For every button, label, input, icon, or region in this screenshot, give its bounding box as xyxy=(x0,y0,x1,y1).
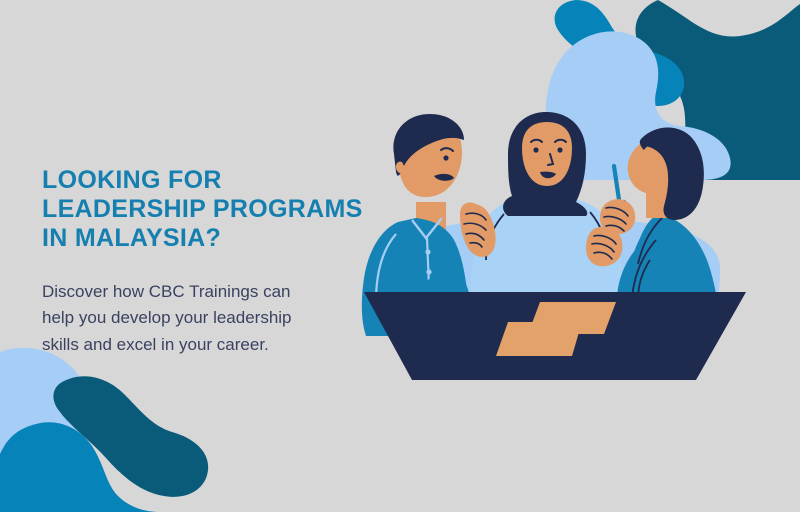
button xyxy=(425,249,430,254)
banner-subcopy: Discover how CBC Trainings can help you … xyxy=(42,279,372,358)
eye-right xyxy=(557,147,562,152)
button xyxy=(426,269,431,274)
meeting-illustration xyxy=(350,110,760,390)
paper-sheet-front xyxy=(496,322,582,356)
decor-blobs-bottom-left xyxy=(0,332,260,512)
eye xyxy=(443,155,448,160)
banner-text-block: LOOKING FOR LEADERSHIP PROGRAMS IN MALAY… xyxy=(42,166,372,358)
eye-left xyxy=(533,147,538,152)
figure-woman-center xyxy=(460,112,624,310)
page-title: LOOKING FOR LEADERSHIP PROGRAMS IN MALAY… xyxy=(42,166,372,253)
promo-banner: LOOKING FOR LEADERSHIP PROGRAMS IN MALAY… xyxy=(0,0,800,512)
